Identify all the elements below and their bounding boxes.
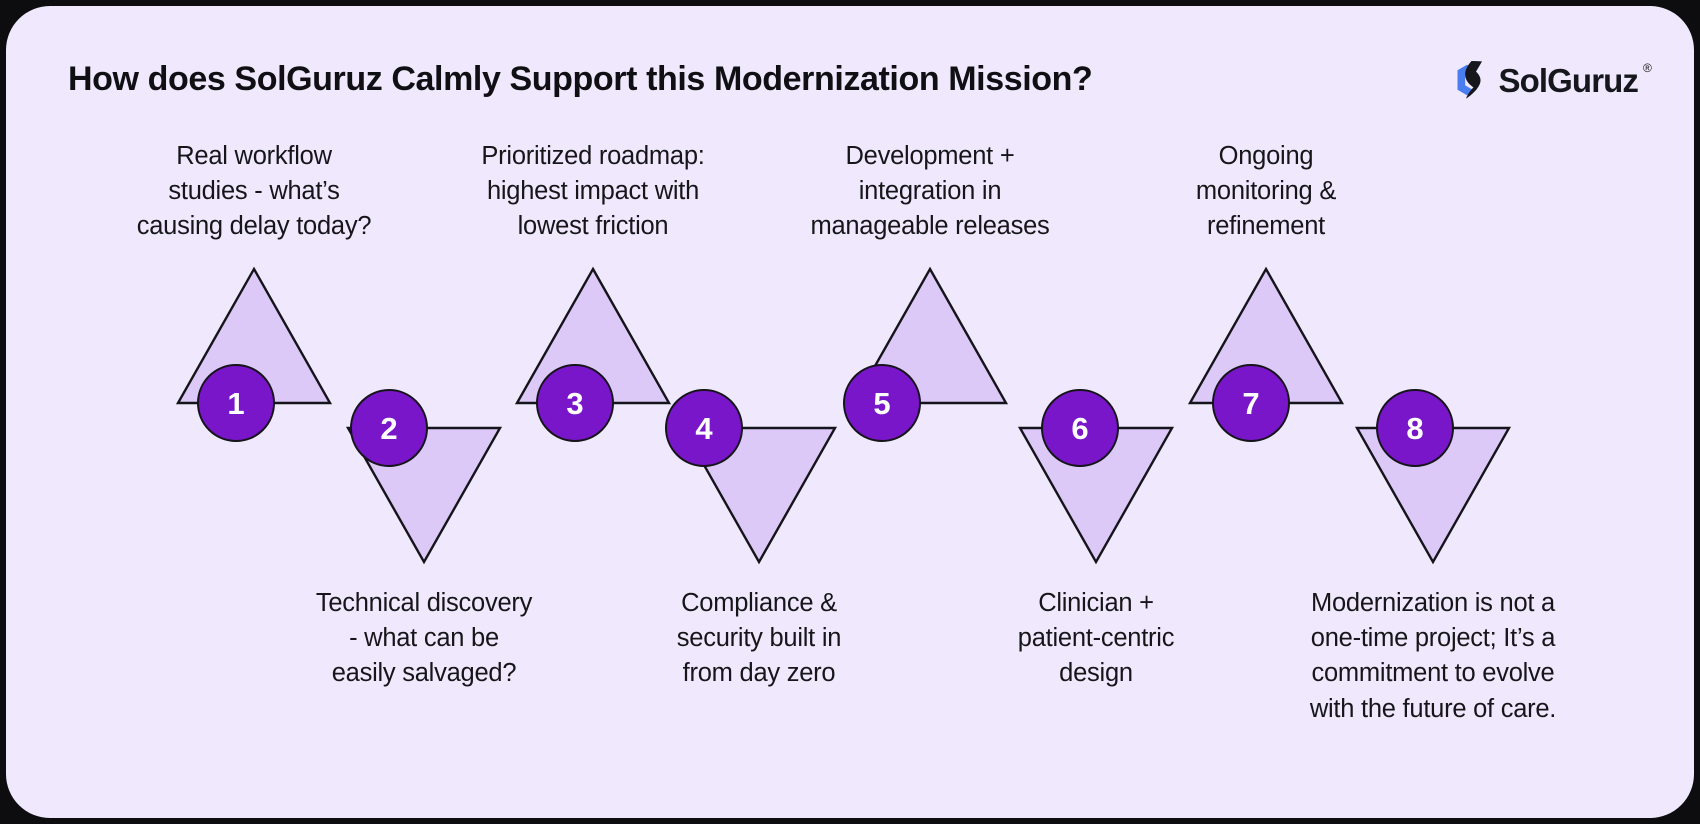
infographic-card: How does SolGuruz Calmly Support this Mo… (6, 6, 1694, 818)
step-label-1: Real workflow studies - what’s causing d… (104, 139, 404, 245)
step-number-3: 3 (566, 388, 583, 419)
step-label-2: Technical discovery - what can be easily… (274, 586, 574, 692)
step-label-7: Ongoing monitoring & refinement (1156, 139, 1376, 245)
step-number-badge-5[interactable]: 5 (843, 364, 921, 442)
step-number-4: 4 (695, 413, 712, 444)
step-number-badge-2[interactable]: 2 (350, 389, 428, 467)
step-number-badge-8[interactable]: 8 (1376, 389, 1454, 467)
step-label-3: Prioritized roadmap: highest impact with… (443, 139, 743, 245)
step-number-2: 2 (380, 413, 397, 444)
step-number-8: 8 (1406, 413, 1423, 444)
steps-diagram: 1Real workflow studies - what’s causing … (6, 6, 1694, 818)
step-number-5: 5 (873, 388, 890, 419)
step-number-badge-3[interactable]: 3 (536, 364, 614, 442)
step-label-4: Compliance & security built in from day … (634, 586, 884, 692)
step-label-6: Clinician + patient-centric design (971, 586, 1221, 692)
step-number-6: 6 (1071, 413, 1088, 444)
step-number-badge-6[interactable]: 6 (1041, 389, 1119, 467)
step-number-badge-1[interactable]: 1 (197, 364, 275, 442)
step-number-badge-4[interactable]: 4 (665, 389, 743, 467)
step-number-badge-7[interactable]: 7 (1212, 364, 1290, 442)
step-label-5: Development + integration in manageable … (785, 139, 1075, 245)
step-number-7: 7 (1242, 388, 1259, 419)
step-number-1: 1 (227, 388, 244, 419)
step-label-8: Modernization is not a one-time project;… (1273, 586, 1593, 727)
